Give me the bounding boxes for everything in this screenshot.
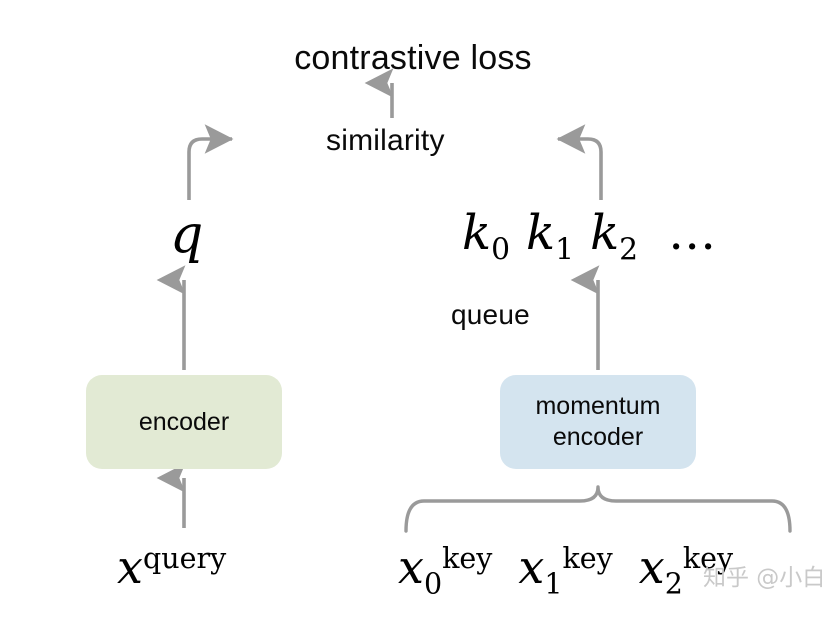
arrow-k-to-similarity: [558, 139, 601, 200]
queue-label: queue: [451, 298, 530, 332]
query-input-symbol: xquery: [117, 540, 226, 594]
momentum-encoder-label-line2: encoder: [553, 423, 643, 451]
connector-layer: [0, 0, 826, 634]
key-symbol-0: k0: [462, 205, 510, 261]
encoder-box[interactable]: encoder: [86, 375, 282, 469]
encoder-box-label: encoder: [139, 407, 229, 438]
query-input-superscript: query: [143, 542, 226, 575]
momentum-encoder-label-line1: momentum: [535, 392, 660, 420]
key-representations-row: k0k1k2…: [462, 205, 716, 261]
brace-key-inputs: [406, 487, 790, 531]
key-input-symbol-0: x0key: [398, 540, 492, 594]
momentum-encoder-box-label: momentumencoder: [535, 391, 660, 453]
similarity-label: similarity: [326, 123, 445, 159]
arrow-q-to-similarity: [189, 139, 232, 200]
momentum-encoder-box[interactable]: momentumencoder: [500, 375, 696, 469]
diagram-canvas: contrastive loss similarity queue q k0k1…: [0, 0, 826, 634]
key-symbol-2: k2: [590, 205, 638, 261]
zhihu-watermark: 知乎 @小白: [703, 564, 825, 592]
key-symbol-1: k1: [526, 205, 574, 261]
contrastive-loss-label: contrastive loss: [0, 38, 826, 78]
key-ellipsis: …: [668, 205, 716, 261]
query-variable: q: [170, 205, 203, 265]
query-input-variable: x: [117, 540, 143, 594]
key-input-symbol-1: x1key: [518, 540, 612, 594]
query-representation-symbol: q: [170, 205, 203, 265]
